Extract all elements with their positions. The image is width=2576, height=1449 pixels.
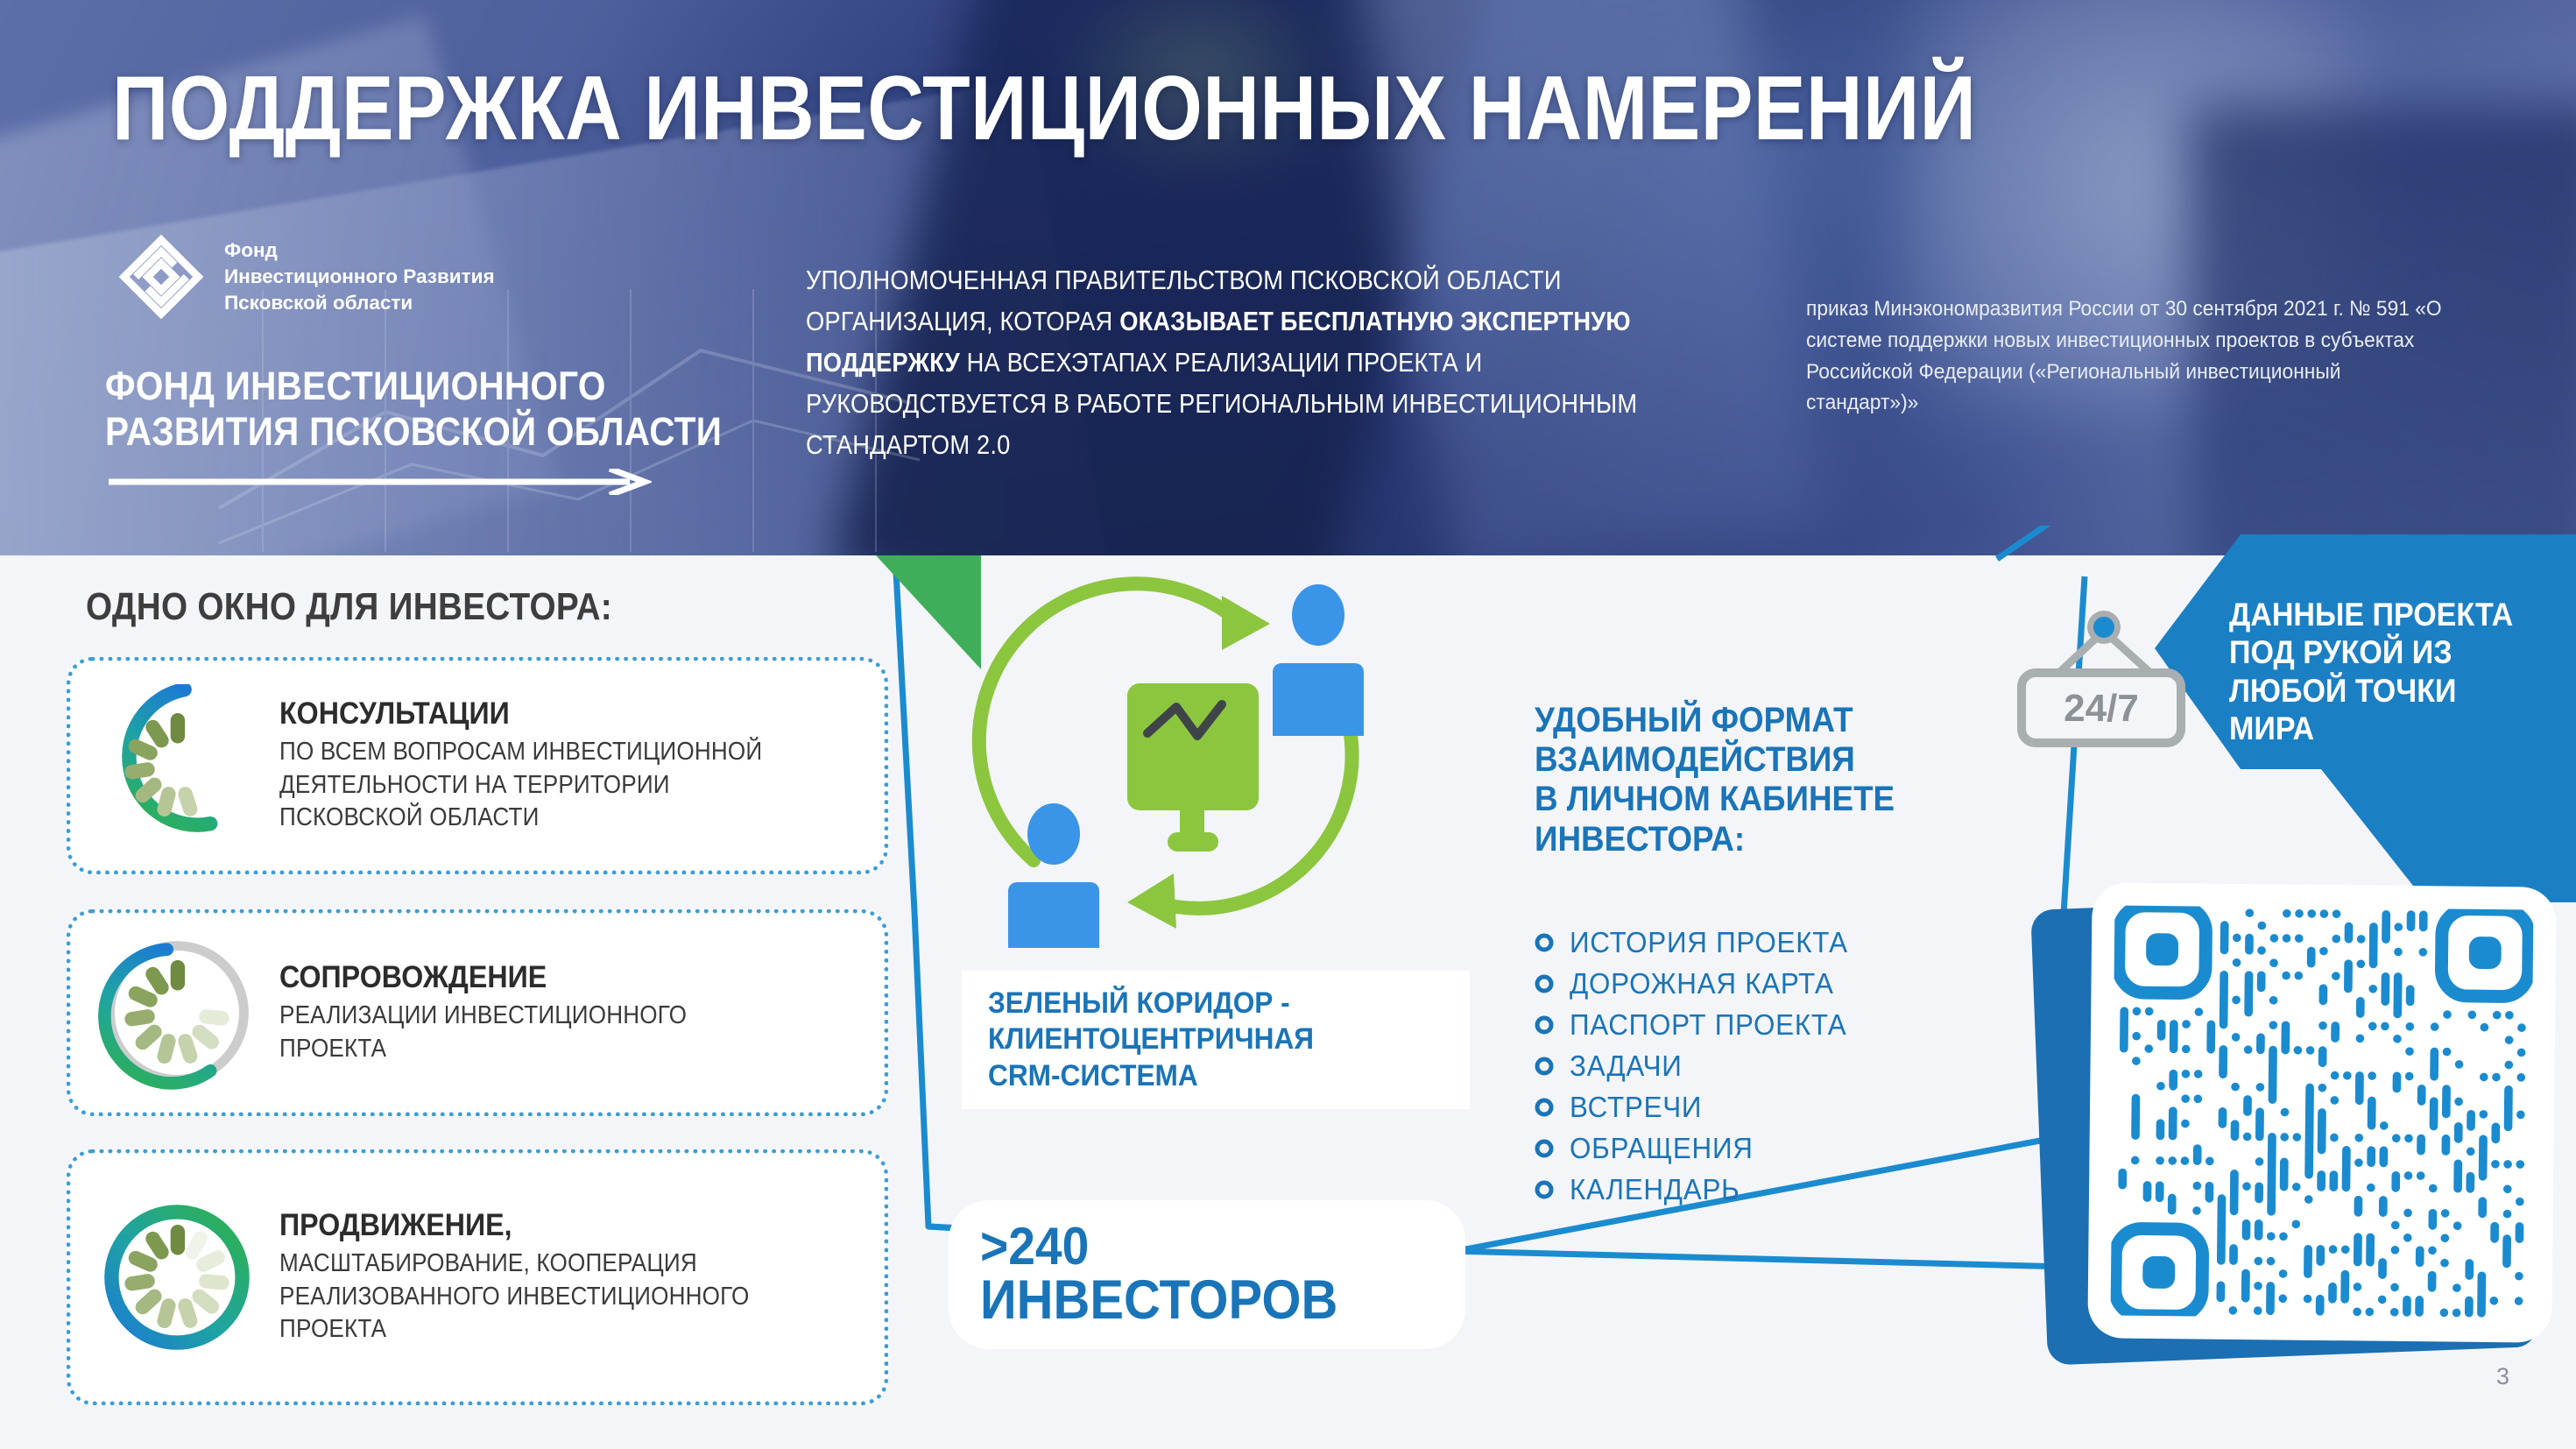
list-item[interactable]: ЗАДАЧИ (1535, 1045, 2025, 1086)
bullet-ring-icon (1535, 1180, 1554, 1199)
page-number: 3 (2496, 1363, 2509, 1390)
card-consultations[interactable]: КОНСУЛЬТАЦИИ ПО ВСЕМ ВОПРОСАМ ИНВЕСТИЦИО… (67, 657, 888, 874)
corridor-line-3: CRM-СИСТЕМА (988, 1058, 1314, 1094)
one-window-heading: ОДНО ОКНО ДЛЯ ИНВЕСТОРА: (86, 585, 612, 629)
progress-ring-icon (97, 684, 257, 847)
investors-number: >240 (980, 1221, 1427, 1273)
brand-logo: Фонд Инвестиционного Развития Псковской … (119, 235, 495, 319)
corridor-line-1: ЗЕЛЕНЫЙ КОРИДОР - (988, 986, 1314, 1021)
card-title: ПРОДВИЖЕНИЕ, (279, 1208, 811, 1242)
list-item[interactable]: ВСТРЕЧИ (1535, 1086, 2025, 1127)
list-item[interactable]: ДОРОЖНАЯ КАРТА (1535, 963, 2025, 1004)
qr-code-card[interactable] (2087, 882, 2556, 1343)
list-item-label: ОБРАЩЕНИЯ (1570, 1132, 1754, 1165)
card-text: ПРОДВИЖЕНИЕ, МАСШТАБИРОВАНИЕ, КООПЕРАЦИЯ… (279, 1208, 857, 1347)
page-title: ПОДДЕРЖКА ИНВЕСТИЦИОННЫХ НАМЕРЕНИЙ (112, 57, 1976, 161)
card-accompaniment[interactable]: СОПРОВОЖДЕНИЕ РЕАЛИЗАЦИИ ИНВЕСТИЦИОННОГО… (67, 909, 888, 1116)
list-item-label: КАЛЕНДАРЬ (1570, 1173, 1740, 1206)
person-icon (1273, 584, 1364, 736)
list-item[interactable]: ИСТОРИЯ ПРОЕКТА (1535, 922, 2025, 963)
list-item-label: ДОРОЖНАЯ КАРТА (1570, 967, 1834, 1000)
logo-line-3: Псковской области (224, 290, 495, 316)
fund-full-name: ФОНД ИНВЕСТИЦИОННОГО РАЗВИТИЯ ПСКОВСКОЙ … (105, 364, 722, 455)
list-item[interactable]: КАЛЕНДАРЬ (1535, 1169, 2025, 1210)
bullet-ring-icon (1535, 1015, 1554, 1035)
green-corridor-box: ЗЕЛЕНЫЙ КОРИДОР - КЛИЕНТОЦЕНТРИЧНАЯ CRM-… (962, 971, 1470, 1109)
list-item-label: ИСТОРИЯ ПРОЕКТА (1570, 926, 1848, 959)
cabinet-heading: УДОБНЫЙ ФОРМАТ ВЗАИМОДЕЙСТВИЯ В ЛИЧНОМ К… (1535, 701, 1953, 859)
arrow-right-icon (109, 469, 652, 495)
legal-reference-note: приказ Минэкономразвития России от 30 се… (1806, 293, 2458, 419)
lead-paragraph: УПОЛНОМОЧЕННАЯ ПРАВИТЕЛЬСТВОМ ПСКОВСКОЙ … (806, 259, 1646, 466)
list-item-label: ЗАДАЧИ (1570, 1050, 1683, 1083)
bullet-ring-icon (1535, 974, 1554, 993)
list-item-label: ПАСПОРТ ПРОЕКТА (1570, 1008, 1846, 1042)
tag-24-7-label: 24/7 (2064, 687, 2139, 730)
cabinet-feature-list: ИСТОРИЯ ПРОЕКТА ДОРОЖНАЯ КАРТА ПАСПОРТ П… (1535, 922, 2025, 1210)
logo-line-2: Инвестиционного Развития (224, 264, 495, 290)
corridor-line-2: КЛИЕНТОЦЕНТРИЧНАЯ (988, 1021, 1314, 1057)
card-subtitle: МАСШТАБИРОВАНИЕ, КООПЕРАЦИЯ РЕАЛИЗОВАННО… (279, 1248, 800, 1347)
logo-line-1: Фонд (224, 237, 495, 264)
progress-ring-icon (97, 1196, 257, 1359)
card-promotion[interactable]: ПРОДВИЖЕНИЕ, МАСШТАБИРОВАНИЕ, КООПЕРАЦИЯ… (67, 1149, 888, 1405)
card-text: КОНСУЛЬТАЦИИ ПО ВСЕМ ВОПРОСАМ ИНВЕСТИЦИО… (279, 696, 857, 835)
list-item-label: ВСТРЕЧИ (1570, 1091, 1702, 1124)
green-corridor-text: ЗЕЛЕНЫЙ КОРИДОР - КЛИЕНТОЦЕНТРИЧНАЯ CRM-… (988, 986, 1314, 1094)
card-text: СОПРОВОЖДЕНИЕ РЕАЛИЗАЦИИ ИНВЕСТИЦИОННОГО… (279, 960, 857, 1066)
person-icon (1008, 803, 1099, 948)
tag-24-7-icon: 24/7 (2006, 601, 2207, 759)
card-title: КОНСУЛЬТАЦИИ (279, 696, 811, 731)
fund-logo-icon (119, 235, 203, 319)
bullet-ring-icon (1535, 1139, 1554, 1158)
card-subtitle: РЕАЛИЗАЦИИ ИНВЕСТИЦИОННОГО ПРОЕКТА (279, 1000, 800, 1065)
card-title: СОПРОВОЖДЕНИЕ (279, 960, 811, 994)
progress-ring-icon (97, 931, 257, 1094)
bullet-ring-icon (1535, 933, 1554, 952)
qr-code-icon (2111, 906, 2534, 1320)
bullet-ring-icon (1535, 1057, 1554, 1076)
list-item[interactable]: ОБРАЩЕНИЯ (1535, 1127, 2025, 1169)
anywhere-panel-text: ДАННЫЕ ПРОЕКТА ПОД РУКОЙ ИЗ ЛЮБОЙ ТОЧКИ … (2229, 596, 2551, 747)
investors-count-badge: >240 ИНВЕСТОРОВ (949, 1200, 1465, 1349)
list-item[interactable]: ПАСПОРТ ПРОЕКТА (1535, 1004, 2025, 1045)
investors-label: ИНВЕСТОРОВ (980, 1273, 1427, 1328)
interaction-cycle-illustration (959, 571, 1520, 948)
brand-logo-words: Фонд Инвестиционного Развития Псковской … (224, 237, 495, 316)
card-subtitle: ПО ВСЕМ ВОПРОСАМ ИНВЕСТИЦИОННОЙ ДЕЯТЕЛЬН… (279, 736, 800, 835)
bullet-ring-icon (1535, 1098, 1554, 1117)
